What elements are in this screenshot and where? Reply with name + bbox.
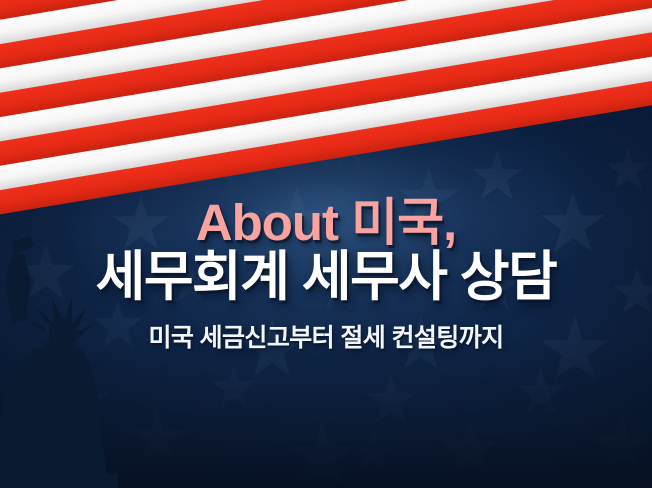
promo-banner: About 미국, 세무회계 세무사 상담 미국 세금신고부터 절세 컨설팅까지 <box>0 0 652 488</box>
headline-group: About 미국, 세무회계 세무사 상담 미국 세금신고부터 절세 컨설팅까지 <box>0 196 652 354</box>
banner-subtitle: 미국 세금신고부터 절세 컨설팅까지 <box>0 318 652 354</box>
headline-line-1: About 미국, <box>0 196 652 250</box>
headline-line-2: 세무회계 세무사 상담 <box>0 248 652 306</box>
